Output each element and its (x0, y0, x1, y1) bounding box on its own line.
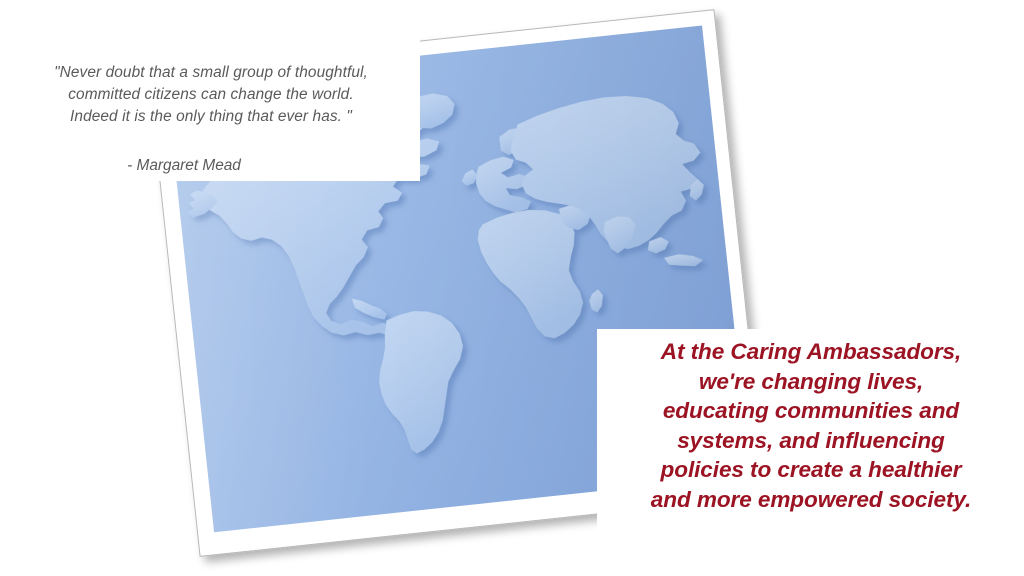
quote-card: "Never doubt that a small group of thoug… (0, 0, 420, 181)
southeast-asia-shape (647, 236, 670, 254)
madagascar-shape (588, 289, 604, 313)
slide-canvas: "Never doubt that a small group of thoug… (0, 0, 1024, 576)
headline-text: At the Caring Ambassadors, we're changin… (605, 337, 1017, 514)
headline-card: At the Caring Ambassadors, we're changin… (597, 329, 1024, 576)
indonesia-shape (664, 252, 704, 270)
quote-attribution: - Margaret Mead (22, 156, 346, 176)
quote-text: "Never doubt that a small group of thoug… (22, 62, 400, 128)
central-america-shape (352, 295, 388, 323)
south-america-shape (372, 306, 474, 456)
british-isles-shape (461, 169, 479, 186)
